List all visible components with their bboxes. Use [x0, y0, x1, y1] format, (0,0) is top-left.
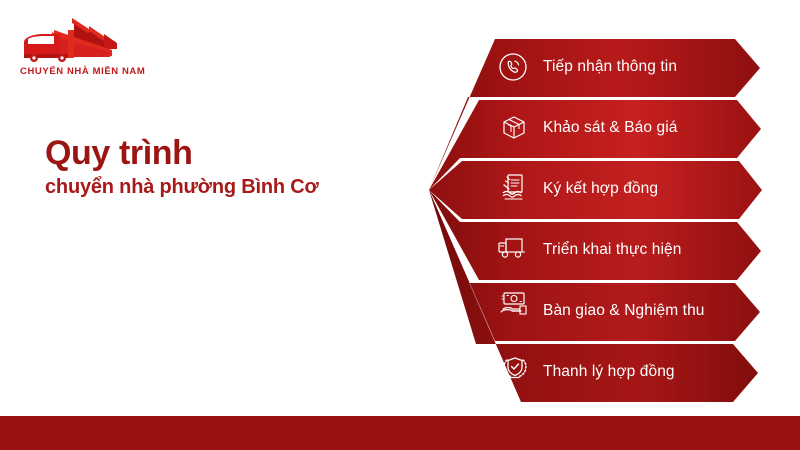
process-step-label-4: Triển khai thực hiện: [543, 241, 681, 259]
phone-circle-icon: [498, 52, 528, 82]
footer-bar: [0, 416, 800, 450]
process-step-label-3: Ký kết hợp đồng: [543, 180, 658, 198]
contract-handshake-icon: [498, 172, 530, 204]
wreath-shield-check-icon: [500, 352, 530, 382]
process-step-label-6: Thanh lý hợp đồng: [543, 363, 675, 381]
process-step-label-2: Khảo sát & Báo giá: [543, 119, 678, 137]
package-box-icon: [499, 112, 529, 142]
cash-handover-icon: [498, 290, 530, 320]
process-funnel: [0, 0, 800, 418]
process-step-label-5: Bàn giao & Nghiệm thu: [543, 302, 705, 320]
process-step-label-1: Tiếp nhận thông tin: [543, 58, 677, 76]
moving-truck-icon: [497, 234, 531, 262]
